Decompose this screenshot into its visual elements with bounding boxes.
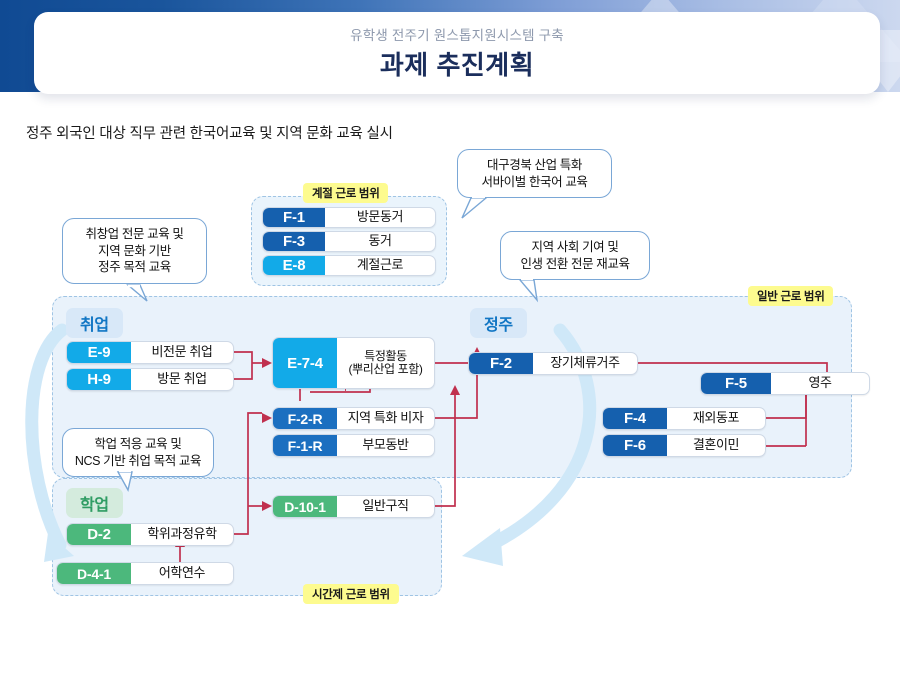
visa-node-d2[interactable]: D-2 학위과정유학 (66, 523, 234, 546)
section-chip-settlement: 정주 (470, 308, 527, 338)
callout-line: 지역 사회 기여 및 (512, 239, 638, 256)
callout-study-adaptation-education: 학업 적응 교육 및 NCS 기반 취업 목적 교육 (62, 428, 214, 477)
visa-node-f6[interactable]: F-6 결혼이민 (602, 434, 766, 457)
visa-node-d4-1[interactable]: D-4-1 어학연수 (56, 562, 234, 585)
visa-label: 어학연수 (131, 563, 233, 584)
visa-code: E-7-4 (273, 338, 337, 388)
visa-label: 일반구직 (337, 496, 434, 517)
visa-code: F-2 (469, 353, 533, 374)
visa-label: 장기체류거주 (533, 353, 637, 374)
visa-node-h9[interactable]: H-9 방문 취업 (66, 368, 234, 391)
visa-label: 방문 취업 (131, 369, 233, 390)
visa-code: F-2-R (273, 408, 337, 429)
visa-node-f2[interactable]: F-2 장기체류거주 (468, 352, 638, 375)
visa-label: 특정활동 (뿌리산업 포함) (337, 338, 434, 388)
visa-node-f5[interactable]: F-5 영주 (700, 372, 870, 395)
visa-node-e7-4[interactable]: E-7-4 특정활동 (뿌리산업 포함) (272, 337, 435, 389)
callout-employment-education: 취창업 전문 교육 및 지역 문화 기반 정주 목적 교육 (62, 218, 207, 284)
callout-line: 취창업 전문 교육 및 (74, 226, 195, 243)
visa-code: D-4-1 (57, 563, 131, 584)
diagram-stage: 계절 근로 범위 일반 근로 범위 시간제 근로 범위 취업 정주 학업 (0, 0, 900, 676)
visa-code: D-2 (67, 524, 131, 545)
callout-line: NCS 기반 취업 목적 교육 (74, 453, 202, 470)
visa-label-line1: 특정활동 (364, 350, 407, 363)
visa-node-f4[interactable]: F-4 재외동포 (602, 407, 766, 430)
badge-seasonal-range: 계절 근로 범위 (303, 183, 388, 203)
visa-label: 영주 (771, 373, 869, 394)
callout-line: 인생 전환 전문 재교육 (512, 256, 638, 273)
visa-label: 재외동포 (667, 408, 765, 429)
callout-line: 대구경북 산업 특화 (469, 157, 600, 174)
badge-general-range: 일반 근로 범위 (748, 286, 833, 306)
visa-label: 동거 (325, 232, 435, 251)
visa-code: F-6 (603, 435, 667, 456)
visa-label: 방문동거 (325, 208, 435, 227)
callout-line: 서바이벌 한국어 교육 (469, 174, 600, 191)
visa-label: 비전문 취업 (131, 342, 233, 363)
visa-label: 결혼이민 (667, 435, 765, 456)
visa-node-f3[interactable]: F-3 동거 (262, 231, 436, 252)
visa-label: 계절근로 (325, 256, 435, 275)
visa-node-e9[interactable]: E-9 비전문 취업 (66, 341, 234, 364)
visa-label: 지역 특화 비자 (337, 408, 434, 429)
visa-code: D-10-1 (273, 496, 337, 517)
visa-code: F-1 (263, 208, 325, 227)
callout-line: 정주 목적 교육 (74, 259, 195, 276)
visa-node-f1-r[interactable]: F-1-R 부모동반 (272, 434, 435, 457)
visa-code: E-8 (263, 256, 325, 275)
visa-code: F-1-R (273, 435, 337, 456)
visa-node-f1[interactable]: F-1 방문동거 (262, 207, 436, 228)
visa-code: F-3 (263, 232, 325, 251)
callout-korean-survival-education: 대구경북 산업 특화 서바이벌 한국어 교육 (457, 149, 612, 198)
visa-node-e8[interactable]: E-8 계절근로 (262, 255, 436, 276)
visa-code: H-9 (67, 369, 131, 390)
visa-code: E-9 (67, 342, 131, 363)
visa-label-line2: (뿌리산업 포함) (349, 363, 423, 376)
section-chip-study: 학업 (66, 488, 123, 518)
visa-code: F-4 (603, 408, 667, 429)
visa-node-d10-1[interactable]: D-10-1 일반구직 (272, 495, 435, 518)
visa-code: F-5 (701, 373, 771, 394)
callout-life-transition-education: 지역 사회 기여 및 인생 전환 전문 재교육 (500, 231, 650, 280)
visa-node-f2-r[interactable]: F-2-R 지역 특화 비자 (272, 407, 435, 430)
callout-line: 학업 적응 교육 및 (74, 436, 202, 453)
section-chip-employment: 취업 (66, 308, 123, 338)
callout-line: 지역 문화 기반 (74, 243, 195, 260)
visa-label: 부모동반 (337, 435, 434, 456)
visa-label: 학위과정유학 (131, 524, 233, 545)
badge-parttime-range: 시간제 근로 범위 (303, 584, 399, 604)
